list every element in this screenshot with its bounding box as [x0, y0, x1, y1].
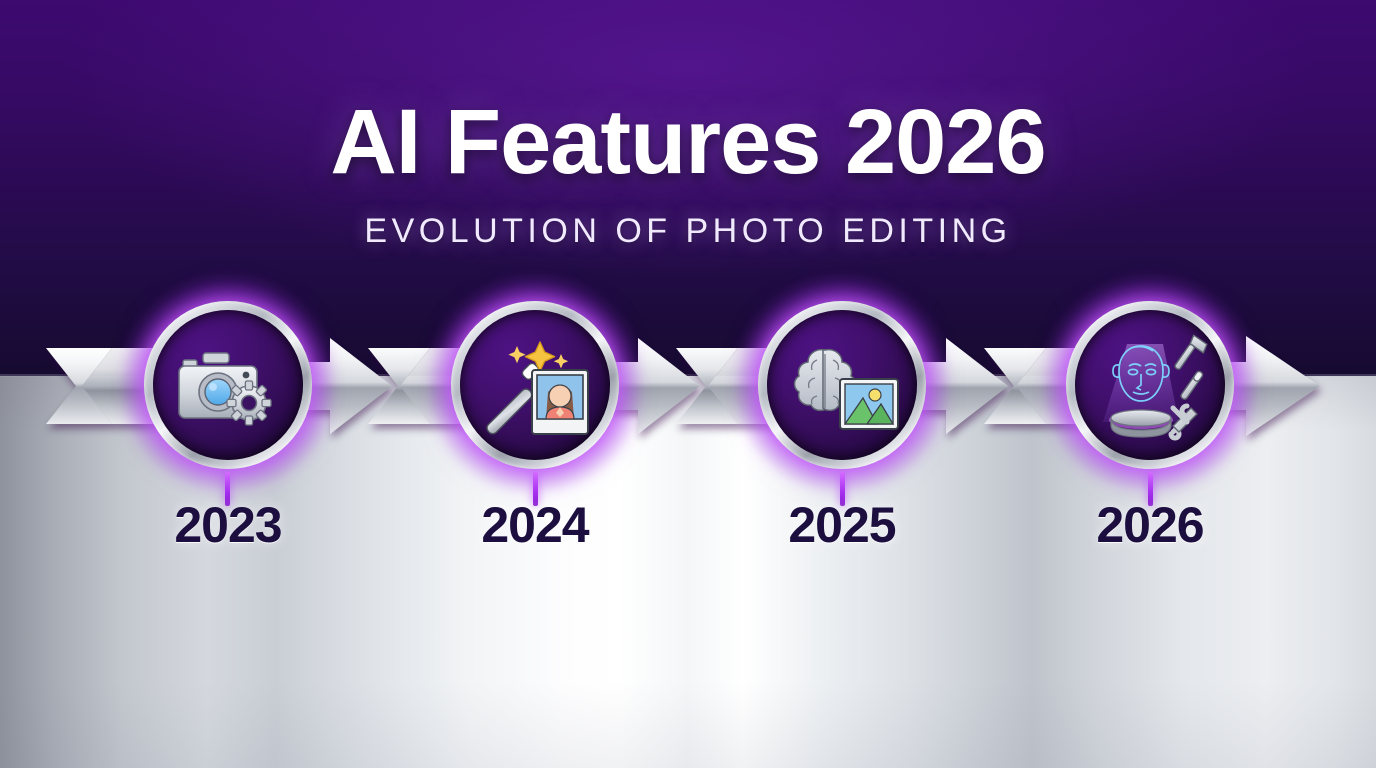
tool-icons: [1171, 335, 1208, 438]
page-title: AI Features 2026: [0, 96, 1376, 188]
timeline-node-2024[interactable]: [451, 301, 619, 469]
camera-with-gear-icon: [153, 310, 303, 460]
brain-landscape-photo-icon: [767, 310, 917, 460]
timeline-node-2026[interactable]: [1066, 301, 1234, 469]
magic-wand-small-icon: [1180, 370, 1204, 400]
infographic-canvas: AI Features 2026 EVOLUTION OF PHOTO EDIT…: [0, 0, 1376, 768]
timeline-node-2025[interactable]: [758, 301, 926, 469]
timeline-node-2023[interactable]: [144, 301, 312, 469]
node-disc: [767, 310, 917, 460]
title-block: AI Features 2026 EVOLUTION OF PHOTO EDIT…: [0, 96, 1376, 248]
year-label-2024: 2024: [385, 498, 685, 553]
year-label-2026: 2026: [1000, 498, 1300, 553]
year-label-2023: 2023: [78, 498, 378, 553]
node-disc: [460, 310, 610, 460]
page-subtitle: EVOLUTION OF PHOTO EDITING: [0, 214, 1376, 248]
magic-wand-photo-icon: [460, 310, 610, 460]
landscape-photo: [840, 379, 898, 429]
portrait-photo: [532, 370, 588, 434]
year-label-2025: 2025: [692, 498, 992, 553]
hologram-pedestal: [1109, 410, 1173, 437]
hammer-icon: [1172, 335, 1208, 376]
hologram-face-tools-icon: [1075, 310, 1225, 460]
node-disc: [153, 310, 303, 460]
node-disc: [1075, 310, 1225, 460]
